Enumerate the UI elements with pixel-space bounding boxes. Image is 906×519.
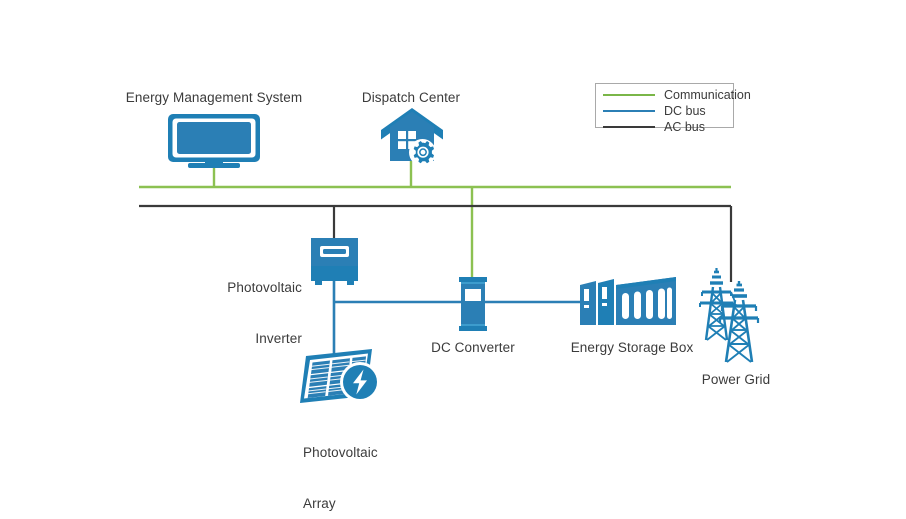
microgrid-diagram-svg [0, 0, 906, 519]
tower-left [700, 268, 733, 340]
label-photovoltaic-inverter-line2: Inverter [188, 330, 302, 347]
house-gear-icon [381, 108, 443, 166]
legend: Communication DC bus AC bus [595, 83, 734, 128]
legend-label-dc-bus: DC bus [664, 104, 706, 118]
monitor-icon [168, 114, 260, 168]
legend-label-ac-bus: AC bus [664, 120, 705, 134]
legend-item-communication: Communication [596, 87, 733, 103]
label-energy-management-system: Energy Management System [104, 89, 324, 106]
label-photovoltaic-array-line1: Photovoltaic [303, 444, 433, 461]
label-photovoltaic-inverter: Photovoltaic Inverter [188, 245, 302, 381]
converter-cabinet-icon [459, 277, 487, 331]
label-power-grid: Power Grid [676, 371, 796, 388]
inverter-icon [311, 238, 358, 285]
label-energy-storage-box: Energy Storage Box [552, 339, 712, 356]
legend-item-ac-bus: AC bus [596, 119, 733, 135]
label-photovoltaic-array-line2: Array [303, 495, 433, 512]
legend-item-dc-bus: DC bus [596, 103, 733, 119]
label-photovoltaic-array: Photovoltaic Array [303, 410, 433, 519]
legend-swatch-communication [603, 94, 655, 96]
battery-container-icon [580, 277, 676, 325]
label-dispatch-center: Dispatch Center [341, 89, 481, 106]
diagram-canvas: Energy Management System Dispatch Center… [0, 0, 906, 519]
legend-swatch-ac-bus [603, 126, 655, 128]
legend-swatch-dc-bus [603, 110, 655, 112]
legend-label-communication: Communication [664, 88, 751, 102]
label-dc-converter: DC Converter [402, 339, 544, 356]
solar-panel-icon [300, 349, 380, 403]
label-photovoltaic-inverter-line1: Photovoltaic [188, 279, 302, 296]
